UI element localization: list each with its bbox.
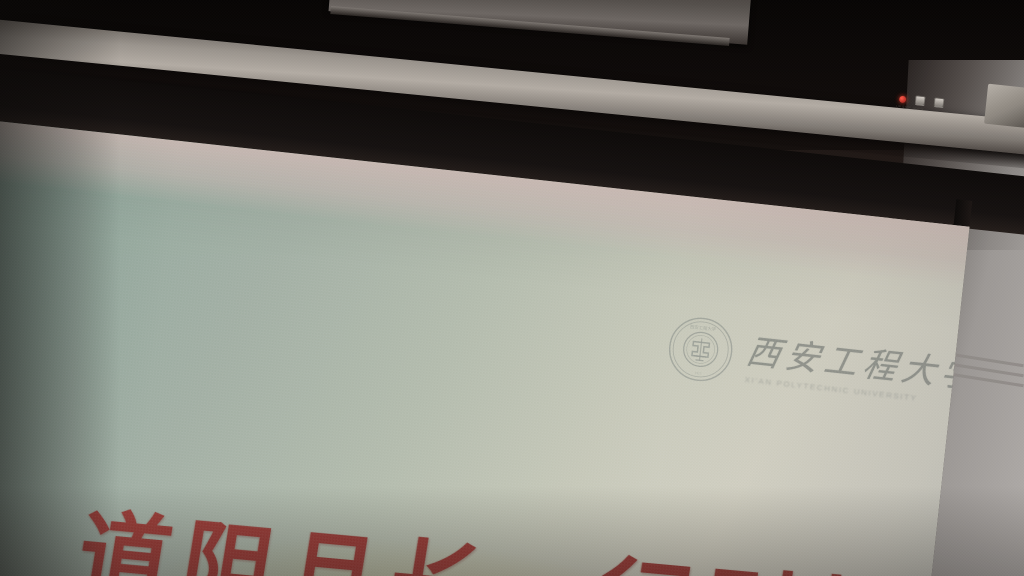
- power-led-icon: [899, 95, 907, 103]
- slide-headline: 道阻且长，行则将至: [70, 508, 969, 576]
- svg-text:1912: 1912: [695, 371, 702, 376]
- screen-down-button[interactable]: [934, 97, 945, 108]
- screenshot-root: 西安工程大学 1912 西安工程大学 XI'AN POLYTECHNIC UNI…: [0, 0, 1024, 576]
- university-seal-icon: 西安工程大学 1912: [664, 313, 737, 386]
- university-logo-text: 西安工程大学 XI'AN POLYTECHNIC UNIVERSITY: [744, 325, 969, 410]
- screen-up-button[interactable]: [915, 95, 926, 106]
- university-logo: 西安工程大学 1912 西安工程大学 XI'AN POLYTECHNIC UNI…: [664, 313, 969, 413]
